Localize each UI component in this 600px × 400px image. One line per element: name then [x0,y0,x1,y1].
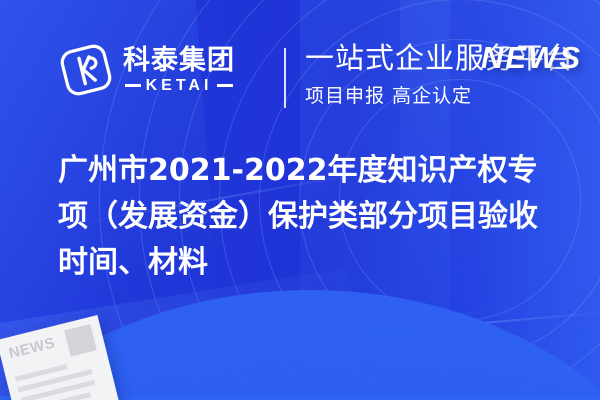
page-title: 广州市2021-2022年度知识产权专项（发展资金）保护类部分项目验收时间、材料 [58,148,558,286]
banner-header: 科泰集团 KETAI 一站式企业服务平台 项目申报 高企认定 NEWS [0,32,600,117]
newspaper-thumbnail [64,324,97,357]
news-badge: NEWS [481,40,582,76]
newspaper-title: NEWS [7,335,56,361]
ketai-diamond-monogram-icon [58,42,114,98]
header-divider [284,48,286,108]
news-banner: 科泰集团 KETAI 一站式企业服务平台 项目申报 高企认定 NEWS 广州市2… [0,0,600,400]
brand-name-en: KETAI [146,78,213,94]
brand-name-en-row: KETAI [123,78,235,94]
tagline-sub: 项目申报 高企认定 [305,81,575,108]
brand-logo[interactable]: 科泰集团 KETAI [58,42,235,98]
wordmark-rule-left [125,84,141,87]
wordmark-rule-right [217,84,233,87]
brand-name-cn: 科泰集团 [123,47,235,74]
brand-wordmark: 科泰集团 KETAI [123,47,235,94]
